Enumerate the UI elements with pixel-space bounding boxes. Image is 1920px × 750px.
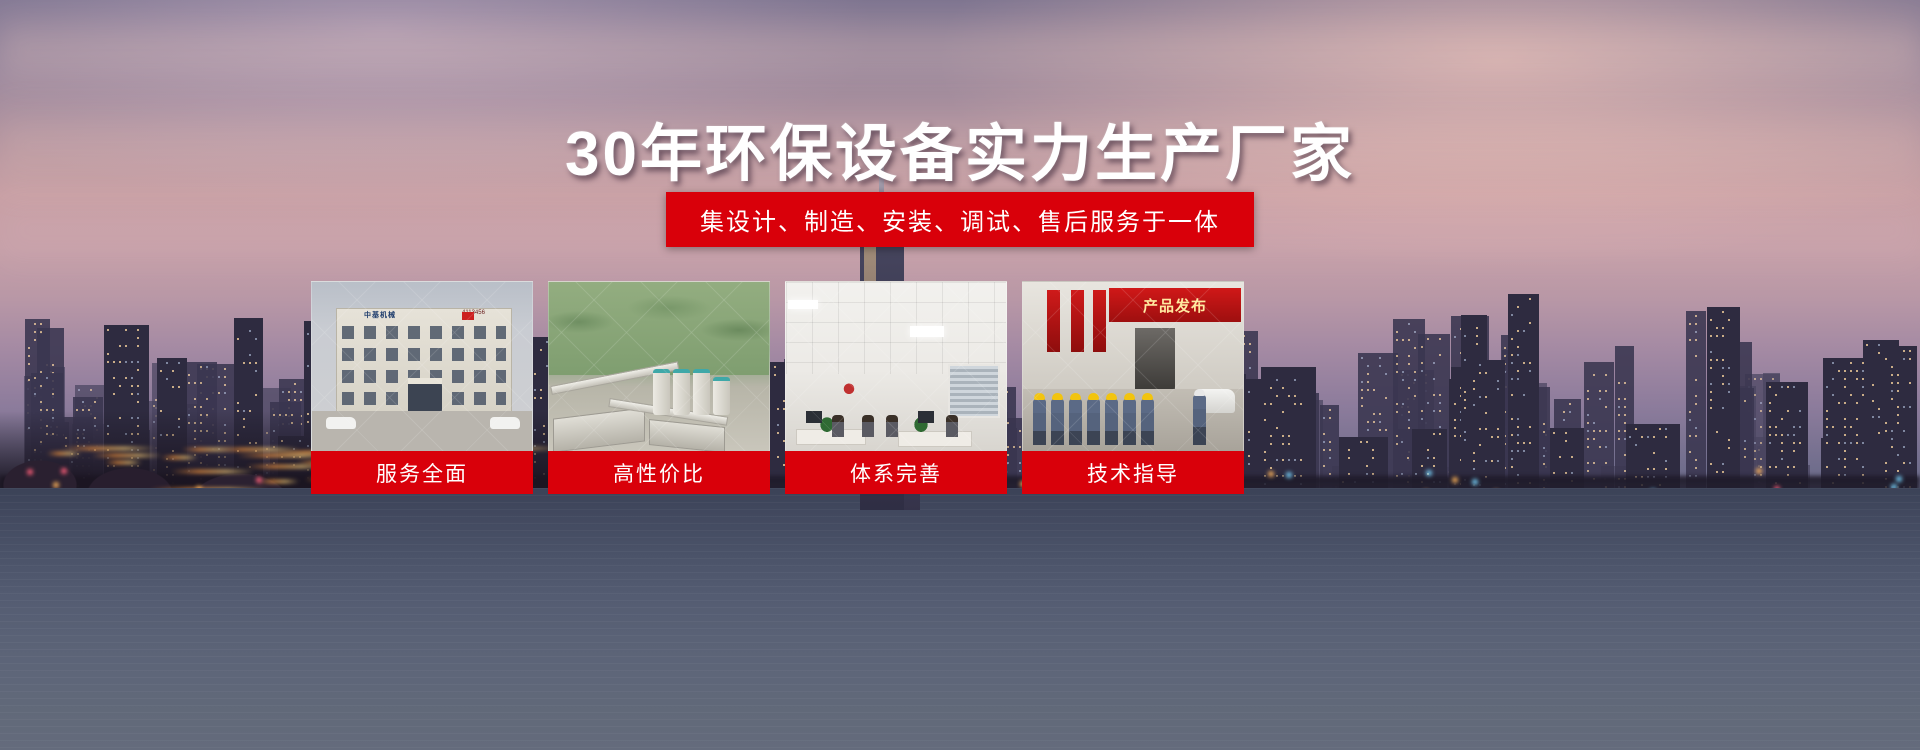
feature-card-list: 中基机械 4113456 服务全面: [311, 281, 1244, 494]
card-photo-industrial-plant: [548, 281, 770, 451]
card-caption: 高性价比: [548, 451, 770, 494]
building-sign-label: 中基机械: [364, 310, 396, 320]
card-caption: 体系完善: [785, 451, 1007, 494]
card-caption: 技术指导: [1022, 451, 1244, 494]
page-title: 30年环保设备实力生产厂家: [0, 103, 1920, 193]
subtitle-ribbon: 集设计、制造、安装、调试、售后服务于一体: [666, 192, 1254, 247]
card-caption: 服务全面: [311, 451, 533, 494]
feature-card[interactable]: 体系完善: [785, 281, 1007, 494]
hero-banner: 30年环保设备实力生产厂家 集设计、制造、安装、调试、售后服务于一体 中基机械 …: [0, 0, 1920, 750]
card-photo-factory-workers: 产品发布: [1022, 281, 1244, 451]
flag-icon: [462, 312, 474, 320]
feature-card[interactable]: 中基机械 4113456 服务全面: [311, 281, 533, 494]
feature-card[interactable]: 产品发布 技术指导: [1022, 281, 1244, 494]
card-photo-office-interior: [785, 281, 1007, 451]
feature-card[interactable]: 高性价比: [548, 281, 770, 494]
card-photo-office-building: 中基机械 4113456: [311, 281, 533, 451]
factory-banner-text: 产品发布: [1109, 288, 1241, 322]
